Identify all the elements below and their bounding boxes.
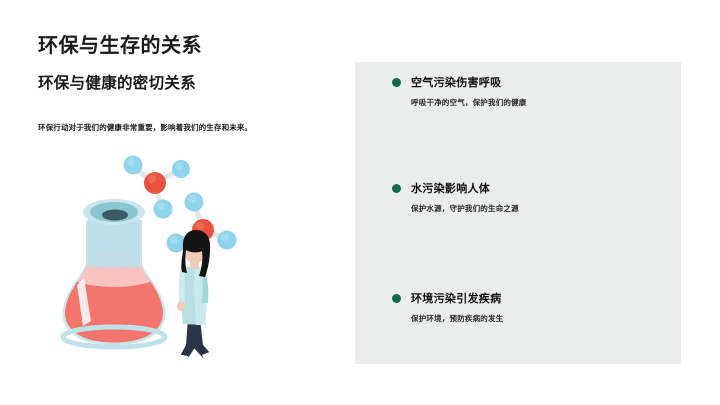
item-title: 水污染影响人体 <box>411 180 490 196</box>
list-item[interactable]: 水污染影响人体 保护水源，守护我们的生命之源 <box>392 180 662 214</box>
info-panel: 空气污染伤害呼吸 呼吸干净的空气，保护我们的健康 水污染影响人体 保护水源，守护… <box>355 62 681 364</box>
left-content-column: 环保与生存的关系 环保与健康的密切关系 环保行动对于我们的健康非常重要，影响着我… <box>0 0 355 405</box>
item-title: 空气污染伤害呼吸 <box>411 74 501 90</box>
page-title: 环保与生存的关系 <box>38 29 202 58</box>
item-heading-row: 水污染影响人体 <box>392 180 662 196</box>
list-item[interactable]: 环境污染引发疾病 保护环境，预防疾病的发生 <box>392 290 662 324</box>
item-description: 保护环境，预防疾病的发生 <box>411 313 662 324</box>
bullet-dot-icon <box>392 184 401 193</box>
bullet-dot-icon <box>392 78 401 87</box>
item-description: 保护水源，守护我们的生命之源 <box>411 203 662 214</box>
item-heading-row: 环境污染引发疾病 <box>392 290 662 306</box>
item-description: 呼吸干净的空气，保护我们的健康 <box>411 97 662 108</box>
bullet-dot-icon <box>392 294 401 303</box>
item-heading-row: 空气污染伤害呼吸 <box>392 74 662 90</box>
intro-paragraph: 环保行动对于我们的健康非常重要，影响着我们的生存和未来。 <box>38 122 252 133</box>
page-subtitle: 环保与健康的密切关系 <box>38 71 196 93</box>
list-item[interactable]: 空气污染伤害呼吸 呼吸干净的空气，保护我们的健康 <box>392 74 662 108</box>
lab-illustration <box>55 145 255 360</box>
item-title: 环境污染引发疾病 <box>411 290 501 306</box>
